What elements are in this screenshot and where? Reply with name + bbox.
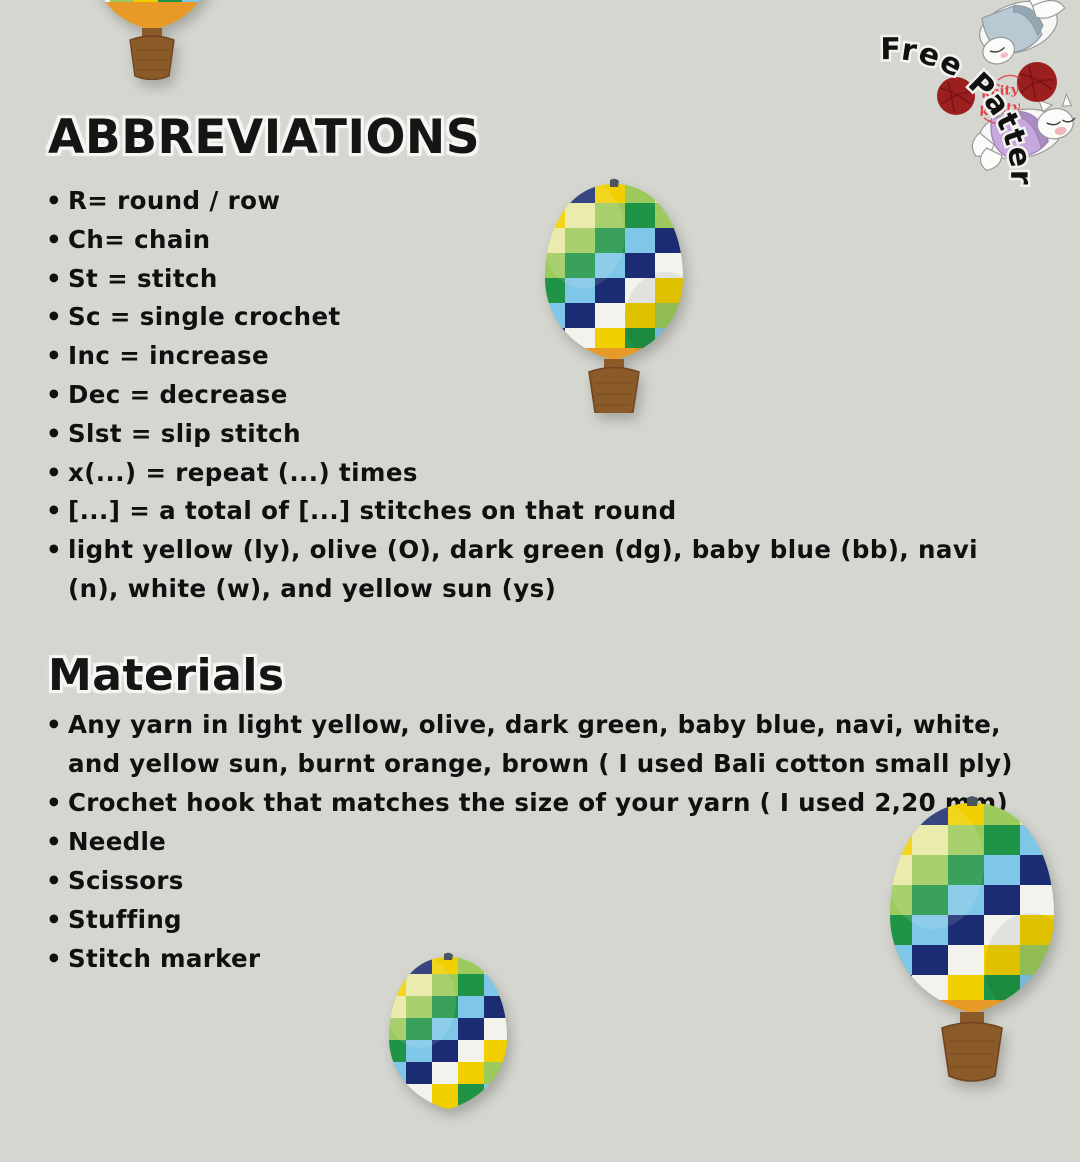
list-item: Any yarn in light yellow, olive, dark gr… (42, 705, 1042, 783)
balloon-photo-center (525, 178, 703, 413)
yarn-ball-icon (1017, 62, 1057, 102)
list-item: x(...) = repeat (...) times (42, 454, 1022, 493)
balloon-photo-bottom-right (866, 795, 1078, 1085)
pattern-page: ABBREVIATIONS R= round / row Ch= chain S… (0, 0, 1080, 1080)
list-item: light yellow (ly), olive (O), dark green… (42, 531, 1022, 609)
free-pattern-watermark: knity knoty Free Pattern (860, 0, 1080, 210)
list-item: [...] = a total of [...] stitches on tha… (42, 492, 1022, 531)
balloon-photo-bottom-center (372, 952, 524, 1162)
materials-heading: Materials (48, 650, 285, 701)
bunny-grey-icon (969, 0, 1075, 68)
list-item: Slst = slip stitch (42, 415, 1022, 454)
abbreviations-heading: ABBREVIATIONS (48, 110, 480, 165)
balloon-photo-top-left (86, 0, 218, 80)
